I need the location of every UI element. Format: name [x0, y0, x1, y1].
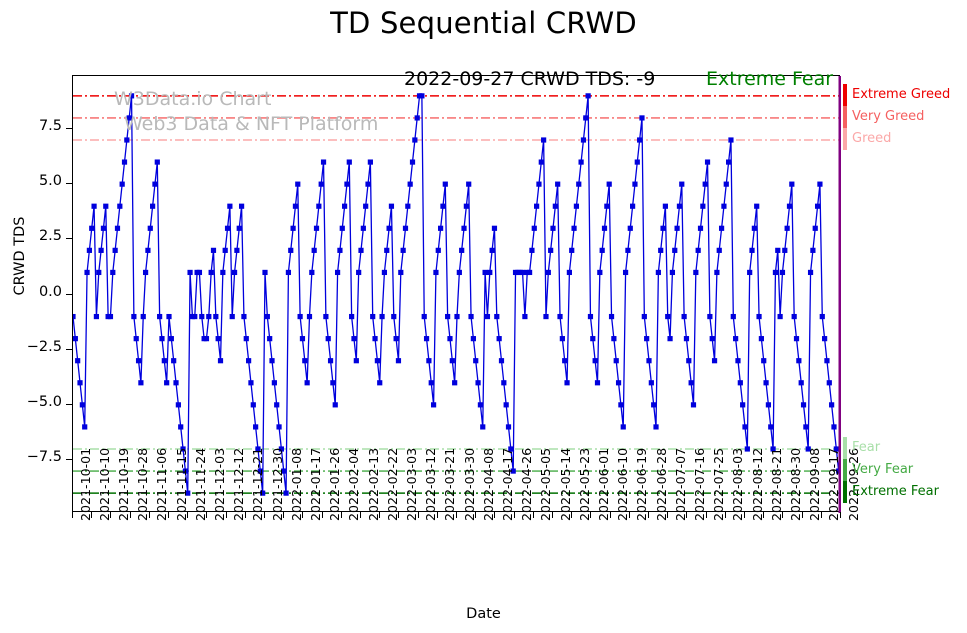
x-tick-label: 2021-11-24 — [193, 448, 208, 521]
band-swatch — [843, 437, 847, 459]
x-tick-label: 2022-09-08 — [807, 448, 822, 521]
x-tick-mark — [264, 512, 265, 518]
y-tick-mark — [66, 349, 72, 350]
band-swatch — [843, 106, 847, 128]
y-tick-mark — [66, 238, 72, 239]
y-tick-label: 2.5 — [0, 228, 62, 244]
x-tick-mark — [590, 512, 591, 518]
x-tick-label: 2022-03-03 — [404, 448, 419, 521]
x-tick-label: 2022-06-19 — [634, 448, 649, 521]
x-tick-label: 2022-02-22 — [385, 448, 400, 521]
x-tick-mark — [706, 512, 707, 518]
x-tick-mark — [514, 512, 515, 518]
x-tick-mark — [341, 512, 342, 518]
x-tick-label: 2022-09-17 — [826, 448, 841, 521]
x-tick-mark — [744, 512, 745, 518]
x-tick-mark — [130, 512, 131, 518]
x-axis-label: Date — [0, 606, 967, 622]
y-tick-mark — [66, 404, 72, 405]
x-tick-label: 2022-05-23 — [577, 448, 592, 521]
x-tick-label: 2022-08-03 — [730, 448, 745, 521]
x-tick-mark — [494, 512, 495, 518]
x-tick-label: 2022-03-12 — [423, 448, 438, 521]
x-tick-mark — [533, 512, 534, 518]
x-tick-mark — [398, 512, 399, 518]
x-tick-label: 2021-12-30 — [270, 448, 285, 521]
x-tick-mark — [110, 512, 111, 518]
x-tick-label: 2022-08-30 — [788, 448, 803, 521]
y-tick-label: 5.0 — [0, 173, 62, 189]
chart-root: TD Sequential CRWD W3Data.io Chart Web3 … — [0, 0, 967, 633]
plot-area — [72, 75, 840, 512]
x-tick-label: 2022-07-25 — [711, 448, 726, 521]
band-swatch — [843, 481, 847, 503]
x-tick-mark — [610, 512, 611, 518]
x-tick-mark — [782, 512, 783, 518]
x-tick-label: 2022-05-05 — [538, 448, 553, 521]
x-tick-label: 2021-12-12 — [231, 448, 246, 521]
x-tick-mark — [667, 512, 668, 518]
series-line — [73, 96, 841, 493]
page-title: TD Sequential CRWD — [0, 6, 967, 40]
x-tick-label: 2022-06-01 — [596, 448, 611, 521]
x-tick-label: 2021-10-10 — [97, 448, 112, 521]
x-tick-mark — [686, 512, 687, 518]
y-tick-label: −5.0 — [0, 394, 62, 410]
x-tick-mark — [360, 512, 361, 518]
x-tick-mark — [206, 512, 207, 518]
x-tick-mark — [283, 512, 284, 518]
x-tick-label: 2021-10-19 — [116, 448, 131, 521]
x-tick-label: 2022-06-28 — [654, 448, 669, 521]
y-tick-label: −7.5 — [0, 449, 62, 465]
x-tick-mark — [322, 512, 323, 518]
band-label: Very Fear — [852, 462, 913, 477]
x-tick-label: 2022-07-07 — [673, 448, 688, 521]
x-tick-label: 2022-04-08 — [481, 448, 496, 521]
x-tick-mark — [475, 512, 476, 518]
x-tick-mark — [571, 512, 572, 518]
y-tick-label: 0.0 — [0, 284, 62, 300]
x-tick-label: 2022-03-30 — [462, 448, 477, 521]
band-swatch — [843, 459, 847, 481]
band-label: Very Greed — [852, 109, 924, 124]
x-tick-label: 2022-01-17 — [308, 448, 323, 521]
x-tick-mark — [437, 512, 438, 518]
x-tick-mark — [763, 512, 764, 518]
x-tick-mark — [149, 512, 150, 518]
x-tick-label: 2022-05-14 — [558, 448, 573, 521]
x-tick-mark — [245, 512, 246, 518]
x-tick-label: 2021-11-15 — [174, 448, 189, 521]
x-tick-label: 2022-04-26 — [519, 448, 534, 521]
x-tick-mark — [802, 512, 803, 518]
x-tick-label: 2022-01-26 — [327, 448, 342, 521]
x-tick-mark — [302, 512, 303, 518]
x-tick-mark — [168, 512, 169, 518]
x-tick-mark — [456, 512, 457, 518]
y-tick-mark — [66, 294, 72, 295]
x-tick-mark — [648, 512, 649, 518]
band-label: Extreme Fear — [852, 484, 939, 499]
x-tick-mark — [725, 512, 726, 518]
x-tick-label: 2022-06-10 — [615, 448, 630, 521]
x-tick-mark — [552, 512, 553, 518]
x-tick-label: 2021-11-06 — [154, 448, 169, 521]
annotation-text: 2022-09-27 CRWD TDS: -9 — [404, 68, 655, 90]
x-tick-label: 2022-01-08 — [289, 448, 304, 521]
x-tick-label: 2021-10-01 — [78, 448, 93, 521]
x-tick-mark — [226, 512, 227, 518]
x-tick-mark — [629, 512, 630, 518]
x-tick-mark — [379, 512, 380, 518]
x-tick-label: 2022-07-16 — [692, 448, 707, 521]
x-tick-label: 2022-02-13 — [366, 448, 381, 521]
x-tick-label: 2022-08-21 — [769, 448, 784, 521]
x-tick-mark — [72, 512, 73, 518]
annotation-sentiment: Extreme Fear — [706, 68, 833, 90]
x-tick-label: 2022-03-21 — [442, 448, 457, 521]
y-tick-mark — [66, 128, 72, 129]
x-tick-label: 2021-12-03 — [212, 448, 227, 521]
x-tick-label: 2021-12-21 — [250, 448, 265, 521]
y-tick-label: 7.5 — [0, 118, 62, 134]
x-tick-mark — [821, 512, 822, 518]
y-tick-mark — [66, 183, 72, 184]
x-tick-mark — [187, 512, 188, 518]
band-swatch — [843, 128, 847, 150]
x-tick-mark — [840, 512, 841, 518]
x-tick-label: 2022-04-17 — [500, 448, 515, 521]
y-tick-mark — [66, 459, 72, 460]
x-tick-label: 2021-10-28 — [135, 448, 150, 521]
x-tick-label: 2022-08-12 — [750, 448, 765, 521]
x-tick-mark — [91, 512, 92, 518]
band-label: Greed — [852, 131, 891, 146]
x-tick-label: 2022-02-04 — [346, 448, 361, 521]
band-swatch — [843, 84, 847, 106]
y-tick-label: −2.5 — [0, 339, 62, 355]
x-tick-mark — [418, 512, 419, 518]
band-label: Fear — [852, 440, 880, 455]
band-label: Extreme Greed — [852, 87, 950, 102]
